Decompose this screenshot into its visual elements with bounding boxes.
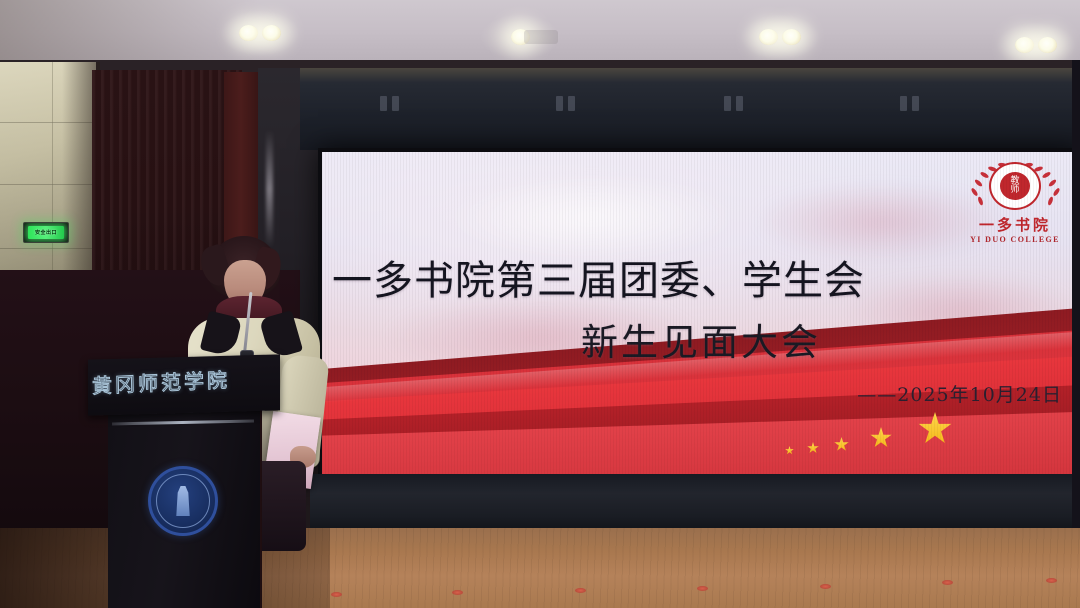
floor-marker: [331, 592, 342, 597]
recessed-spotlight: [228, 18, 292, 48]
floor-marker: [942, 580, 953, 585]
wall-right-edge: [1072, 60, 1080, 540]
seal-bottom-char: 师: [1010, 186, 1019, 195]
wall-light-reflection: [266, 130, 273, 248]
led-screen: 教 师 一多书院 YI DUO COLLEGE 一多书院第三届团委、学生会 新生…: [318, 148, 1080, 476]
floor-marker: [820, 584, 831, 589]
floor-marker: [575, 588, 586, 593]
recessed-spotlight: [488, 22, 552, 52]
stage-photo-scene: 安全出口: [0, 0, 1080, 608]
led-screen-content: 教 师 一多书院 YI DUO COLLEGE 一多书院第三届团委、学生会 新生…: [322, 152, 1080, 474]
logo-name-cn: 一多书院: [956, 214, 1074, 235]
floor-marker: [1046, 578, 1057, 583]
exit-sign-label: 安全出口: [35, 229, 57, 236]
screen-valance: [300, 68, 1080, 150]
logo-name-en: YI DUO COLLEGE: [956, 235, 1074, 244]
presentation-headline: 一多书院第三届团委、学生会: [332, 248, 1080, 306]
stage-skirt: [310, 474, 1080, 530]
university-crest-icon: [148, 466, 218, 536]
floor-marker: [452, 590, 463, 595]
recessed-spotlight: [1004, 30, 1068, 60]
emergency-exit-sign: 安全出口: [23, 222, 69, 243]
presentation-date: ——2025年10月24日: [322, 380, 1062, 407]
floor-marker: [697, 586, 708, 591]
recessed-spotlight: [748, 22, 812, 52]
presentation-subline: 新生见面大会: [322, 312, 1080, 366]
seal-icon: 教 师: [989, 162, 1041, 210]
